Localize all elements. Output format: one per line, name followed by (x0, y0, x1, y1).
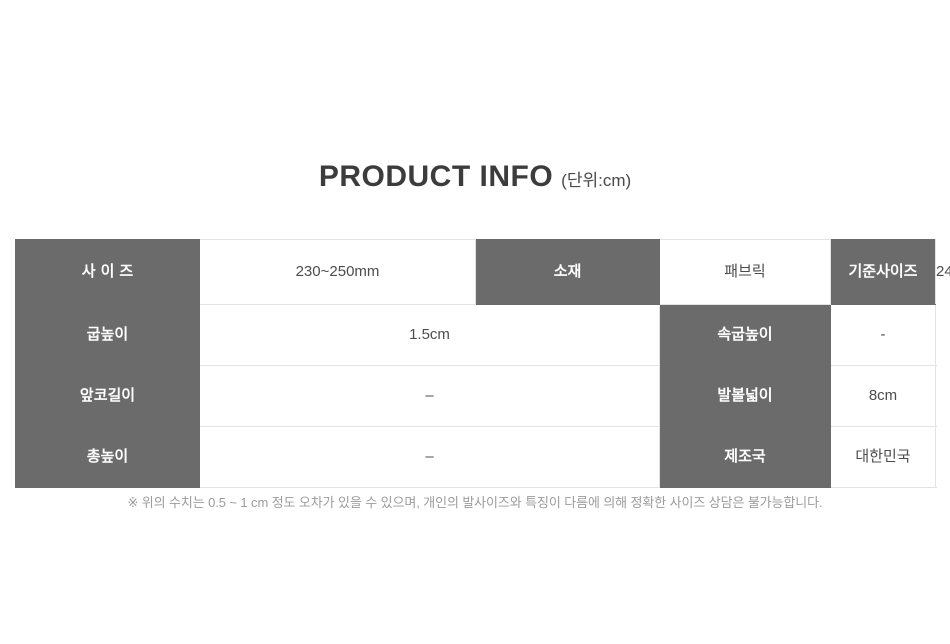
cell-value-inner-heel-height: - (831, 305, 936, 366)
cell-label-material: 소재 (476, 240, 660, 305)
cell-label-foot-width: 발볼넓이 (660, 366, 831, 427)
page-title-main: PRODUCT INFO (319, 160, 553, 193)
cell-value-country-of-origin: 대한민국 (831, 427, 936, 488)
cell-label-standard-size: 기준사이즈 (831, 240, 936, 305)
page-title: PRODUCT INFO(단위:cm) (0, 160, 950, 194)
cell-value-foot-width: 8cm (831, 366, 936, 427)
size-disclaimer-note: ※ 위의 수치는 0.5 ~ 1 cm 정도 오차가 있을 수 있으며, 개인의… (0, 492, 950, 511)
cell-label-inner-heel-height: 속굽높이 (660, 305, 831, 366)
product-info-page: PRODUCT INFO(단위:cm) 사이즈 230~250mm 소재 패브릭… (0, 0, 950, 644)
table-row: 총높이 – 제조국 대한민국 (16, 427, 936, 488)
cell-value-total-height: – (200, 427, 660, 488)
table-row: 사이즈 230~250mm 소재 패브릭 기준사이즈 240mm (16, 240, 936, 305)
cell-value-material: 패브릭 (660, 240, 831, 305)
cell-value-heel-height: 1.5cm (200, 305, 660, 366)
table-row: 굽높이 1.5cm 속굽높이 - (16, 305, 936, 366)
cell-value-size: 230~250mm (200, 240, 476, 305)
product-info-table-wrap: 사이즈 230~250mm 소재 패브릭 기준사이즈 240mm 굽높이 1.5… (15, 239, 935, 488)
cell-label-toe-length: 앞코길이 (16, 366, 200, 427)
cell-label-size: 사이즈 (16, 240, 200, 305)
page-title-unit: (단위:cm) (561, 171, 631, 190)
product-info-table: 사이즈 230~250mm 소재 패브릭 기준사이즈 240mm 굽높이 1.5… (15, 239, 936, 488)
cell-label-country-of-origin: 제조국 (660, 427, 831, 488)
table-row: 앞코길이 – 발볼넓이 8cm (16, 366, 936, 427)
cell-label-heel-height: 굽높이 (16, 305, 200, 366)
cell-label-total-height: 총높이 (16, 427, 200, 488)
cell-value-toe-length: – (200, 366, 660, 427)
